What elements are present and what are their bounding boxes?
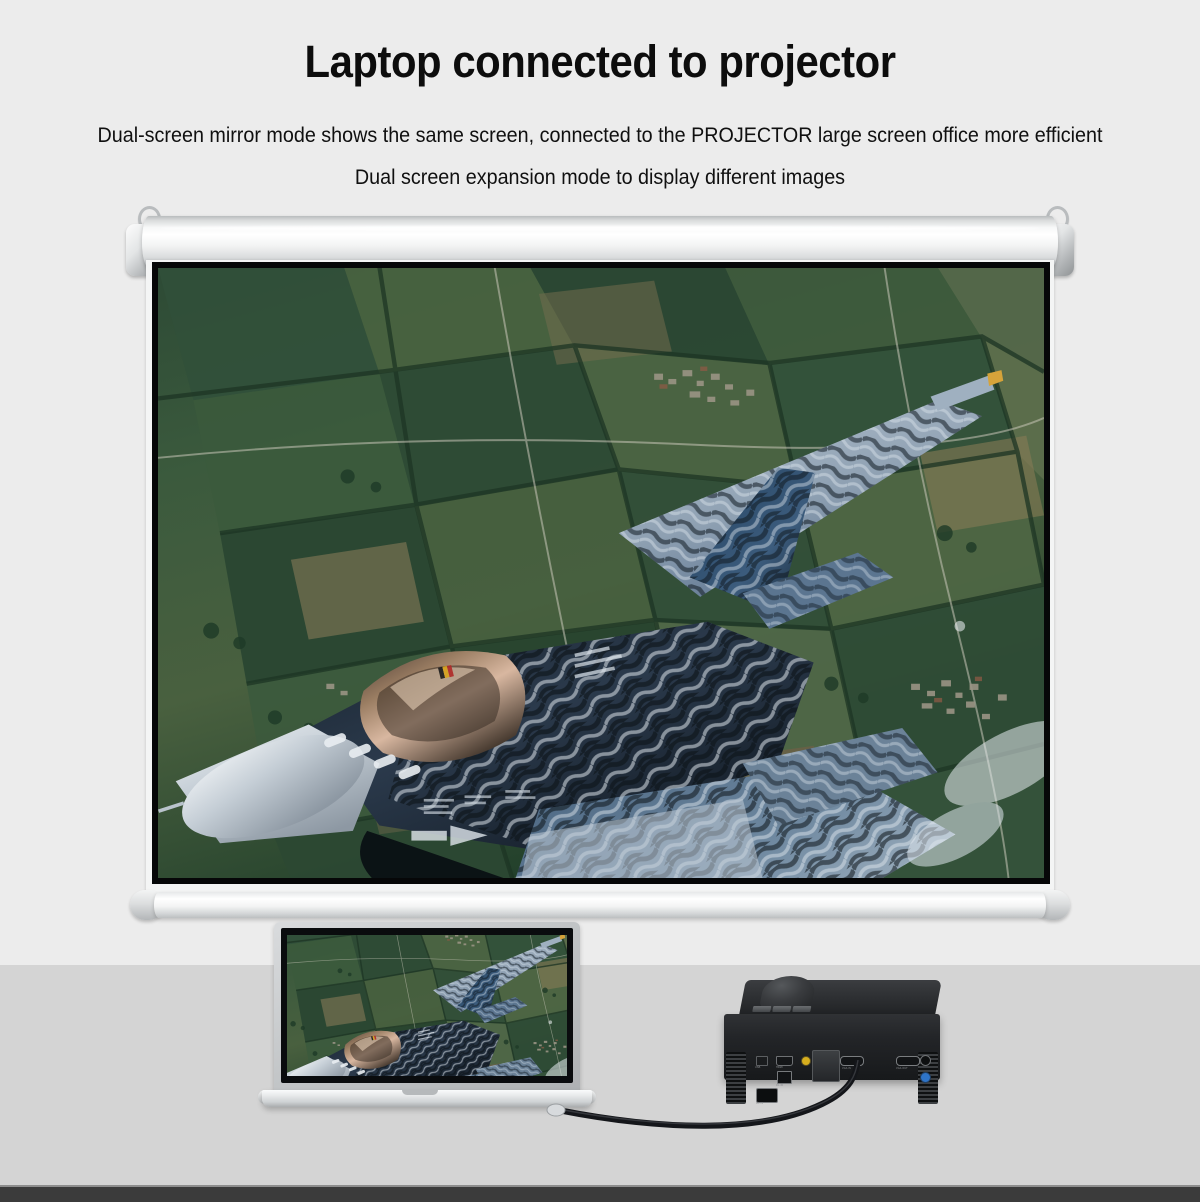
ethernet-port-label: RJ-45 [776,1084,783,1087]
laptop-lid [274,922,580,1094]
fighter-jet-artwork [158,268,1044,878]
usb-port-label: USB [755,1066,760,1069]
projector-device: USB HDMI RJ-45 S-VIDEO VGA IN VGA OUT AC… [716,980,948,1098]
hdmi-port-label: HDMI [776,1066,783,1069]
vga-port-icon[interactable] [840,1056,864,1066]
page-title: Laptop connected to projector [42,36,1158,88]
projected-image [158,268,1044,878]
power-inlet-icon[interactable] [756,1088,778,1103]
hdmi-plug-connector [812,1050,840,1082]
power-inlet-label: AC IN [756,1102,763,1105]
vga-out-port-icon[interactable] [896,1056,920,1066]
background-band-bottom [0,1185,1200,1202]
audio-out-jack-icon[interactable] [920,1055,931,1066]
projection-screen [120,198,1080,908]
laptop-screen [287,935,567,1076]
laptop [262,922,592,1122]
projector-port-panel: USB HDMI RJ-45 S-VIDEO VGA IN VGA OUT AC… [754,1054,926,1106]
laptop-fighter-jet-artwork [287,935,567,1076]
projector-body: USB HDMI RJ-45 S-VIDEO VGA IN VGA OUT AC… [724,1014,940,1080]
rca-jack-icon[interactable] [801,1056,811,1066]
background-band-middle [0,965,1200,1185]
subtitle-line-1: Dual-screen mirror mode shows the same s… [36,124,1164,148]
subtitle-line-2: Dual screen expansion mode to display di… [36,166,1164,190]
poster-stage: Laptop connected to projector Dual-scree… [0,0,1200,1200]
laptop-bezel [281,928,573,1083]
audio-in-jack-icon[interactable] [920,1072,931,1083]
projector-vent-left [726,1052,746,1104]
vga-in-label: VGA IN [842,1067,851,1070]
laptop-base [262,1090,592,1107]
hdmi-port-icon[interactable] [776,1056,793,1066]
screen-weight-bar [154,892,1046,918]
vga-out-label: VGA OUT [896,1067,908,1070]
ethernet-port-icon[interactable] [777,1071,792,1084]
usb-port-icon[interactable] [756,1056,768,1066]
